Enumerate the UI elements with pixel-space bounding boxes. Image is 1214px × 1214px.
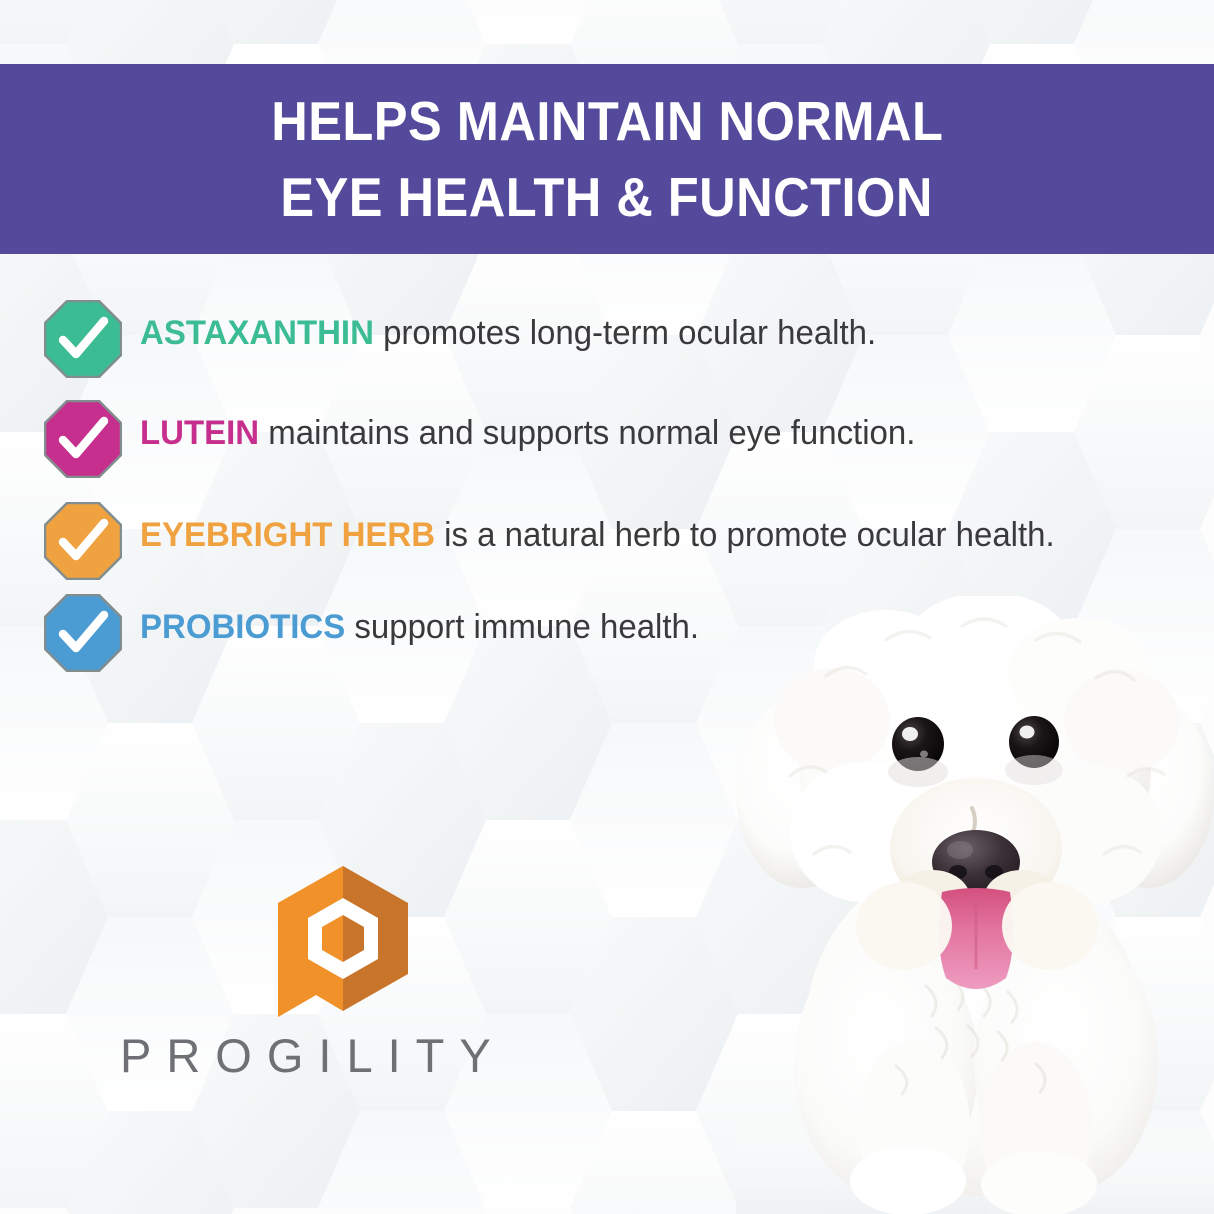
brand-logo: PROGILITY bbox=[120, 862, 540, 1083]
benefit-description: support immune health. bbox=[345, 608, 699, 646]
benefit-item-probiotics: PROBIOTICS support immune health. bbox=[44, 594, 1184, 672]
benefit-item-lutein: LUTEIN maintains and supports normal eye… bbox=[44, 400, 1184, 478]
benefit-keyword: PROBIOTICS bbox=[140, 608, 345, 646]
brand-wordmark: PROGILITY bbox=[120, 1028, 540, 1083]
headline-line-1: HELPS MAINTAIN NORMAL bbox=[271, 83, 943, 159]
headline-line-2: EYE HEALTH & FUNCTION bbox=[281, 159, 933, 235]
benefit-text-astaxanthin: ASTAXANTHIN promotes long-term ocular he… bbox=[140, 300, 1153, 356]
check-octagon-icon bbox=[44, 300, 122, 378]
benefit-item-astaxanthin: ASTAXANTHIN promotes long-term ocular he… bbox=[44, 300, 1184, 378]
benefit-text-eyebright-herb: EYEBRIGHT HERB is a natural herb to prom… bbox=[140, 502, 1153, 558]
benefit-description: maintains and supports normal eye functi… bbox=[259, 414, 915, 452]
benefit-description: promotes long-term ocular health. bbox=[374, 314, 876, 352]
benefit-item-eyebright-herb: EYEBRIGHT HERB is a natural herb to prom… bbox=[44, 502, 1184, 580]
progility-hexagon-p-logo-icon bbox=[268, 862, 418, 1022]
check-octagon-icon bbox=[44, 400, 122, 478]
product-benefits-infographic: HELPS MAINTAIN NORMAL EYE HEALTH & FUNCT… bbox=[0, 0, 1214, 1214]
benefit-list: ASTAXANTHIN promotes long-term ocular he… bbox=[44, 300, 1184, 690]
benefit-text-lutein: LUTEIN maintains and supports normal eye… bbox=[140, 400, 1153, 456]
check-octagon-icon bbox=[44, 502, 122, 580]
headline-banner: HELPS MAINTAIN NORMAL EYE HEALTH & FUNCT… bbox=[0, 64, 1214, 254]
benefit-text-probiotics: PROBIOTICS support immune health. bbox=[140, 594, 722, 650]
benefit-keyword: LUTEIN bbox=[140, 414, 259, 452]
benefit-keyword: ASTAXANTHIN bbox=[140, 314, 374, 352]
check-octagon-icon bbox=[44, 594, 122, 672]
benefit-description: is a natural herb to promote ocular heal… bbox=[435, 516, 1055, 554]
benefit-keyword: EYEBRIGHT HERB bbox=[140, 516, 435, 554]
